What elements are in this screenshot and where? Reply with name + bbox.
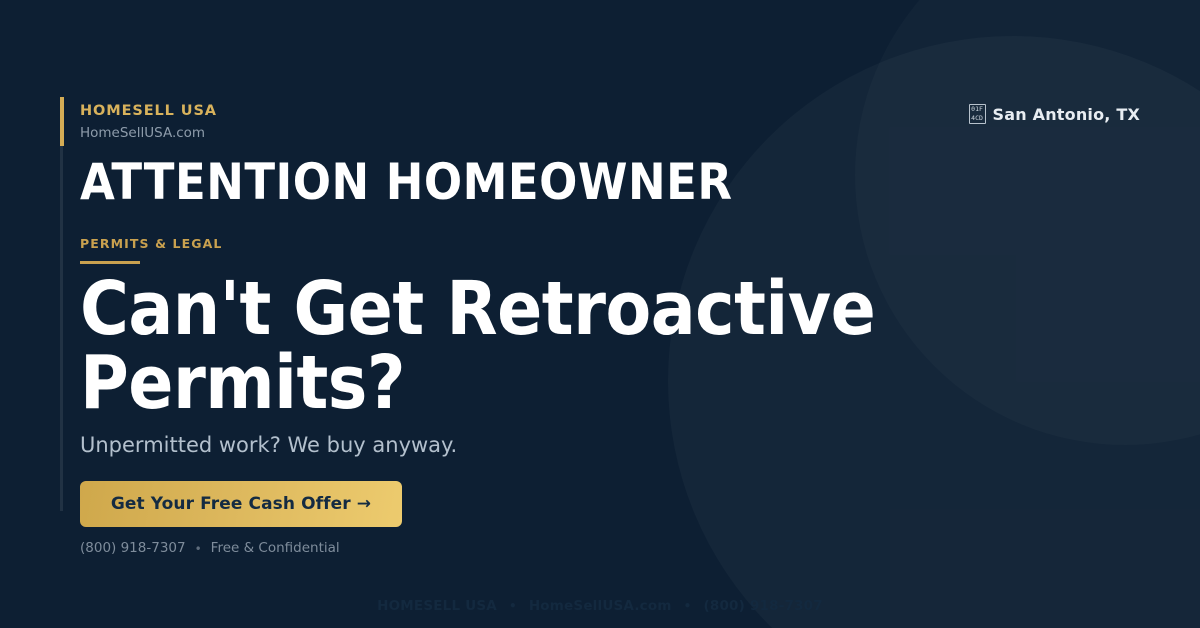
contact-line: (800) 918-7307 • Free & Confidential — [80, 542, 340, 556]
page-title: Can't Get Retroactive Permits? — [80, 272, 900, 420]
footer-bar: HOMESELL USA • HomeSellUSA.com • (800) 9… — [0, 583, 1200, 628]
brand-block: HOMESELL USA HomeSellUSA.com — [80, 104, 217, 140]
footer-website[interactable]: HomeSellUSA.com — [529, 598, 672, 614]
cta-free-cash-offer-button[interactable]: Get Your Free Cash Offer → — [80, 481, 402, 527]
ad-banner: HOMESELL USA HomeSellUSA.com ATTENTION H… — [0, 0, 1200, 628]
footer-separator-dot-2: • — [684, 599, 692, 613]
footer-brand: HOMESELL USA — [377, 598, 497, 614]
ad-content: HOMESELL USA HomeSellUSA.com ATTENTION H… — [80, 0, 980, 583]
footer-phone[interactable]: (800) 918-7307 — [703, 598, 822, 614]
contact-separator-dot: • — [195, 543, 202, 555]
contact-phone[interactable]: (800) 918-7307 — [80, 542, 186, 556]
map-pin-icon-codepoint-bottom: 4CD — [970, 114, 985, 123]
footer-separator-dot-1: • — [509, 599, 517, 613]
brand-website: HomeSellUSA.com — [80, 127, 217, 141]
gold-accent-rail — [60, 97, 64, 146]
brand-name: HOMESELL USA — [80, 104, 217, 119]
footer-content: HOMESELL USA • HomeSellUSA.com • (800) 9… — [377, 598, 823, 614]
subheadline: Unpermitted work? We buy anyway. — [80, 435, 457, 456]
location-badge: 01F 4CD San Antonio, TX — [969, 104, 1140, 124]
vertical-divider-rail — [60, 146, 63, 511]
map-pin-icon-codepoint-top: 01F — [970, 105, 985, 114]
map-pin-icon: 01F 4CD — [969, 104, 986, 124]
category-eyebrow: PERMITS & LEGAL — [80, 238, 222, 251]
location-label: San Antonio, TX — [993, 105, 1140, 124]
contact-note: Free & Confidential — [211, 542, 340, 556]
attention-headline: ATTENTION HOMEOWNER — [80, 157, 733, 207]
eyebrow-underline-rule — [80, 261, 140, 264]
